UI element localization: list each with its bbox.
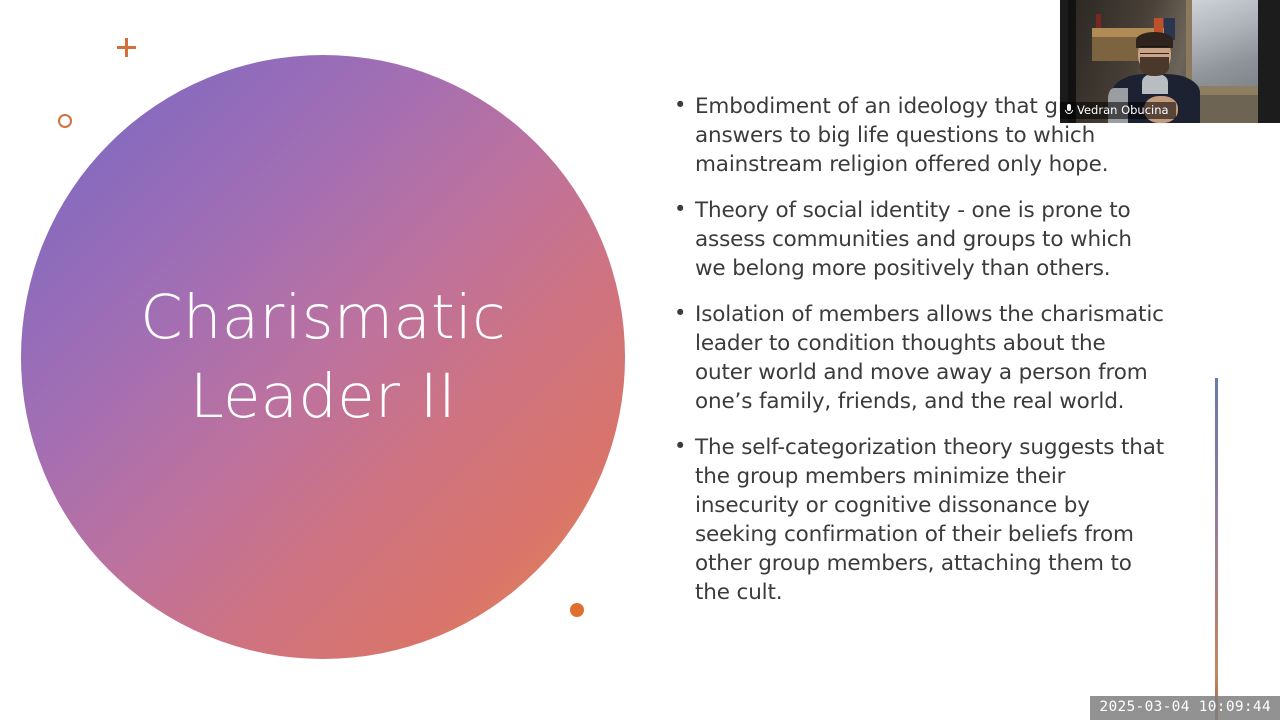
participant-name-tag: Vedran Obucina [1060, 102, 1176, 119]
slide-body: Embodiment of an ideology that gives ans… [668, 92, 1168, 607]
microphone-icon [1065, 104, 1073, 116]
vertical-gradient-line [1215, 378, 1218, 720]
bullet-item: The self-categorization theory suggests … [668, 433, 1168, 607]
video-person-shirt [1142, 74, 1168, 94]
slide-title: Charismatic Leader II [45, 278, 601, 437]
video-shelf-object [1096, 14, 1101, 28]
bullet-item: Isolation of members allows the charisma… [668, 300, 1168, 416]
screen-root: Charismatic Leader II Embodiment of an i… [0, 0, 1280, 720]
video-letterbox-right [1258, 0, 1280, 123]
circle-outline-mark-icon [58, 114, 72, 128]
filled-dot-mark-icon [570, 603, 584, 617]
bullet-item: Theory of social identity - one is prone… [668, 196, 1168, 283]
video-desk [1198, 95, 1258, 123]
bullet-list: Embodiment of an ideology that gives ans… [668, 92, 1168, 607]
title-circle: Charismatic Leader II [21, 55, 625, 659]
video-person-glasses [1140, 46, 1169, 54]
plus-mark-icon [117, 38, 136, 57]
video-person-beard [1140, 57, 1169, 76]
participant-video-overlay[interactable]: Vedran Obucina [1060, 0, 1280, 123]
recording-timestamp: 2025-03-04 10:09:44 [1090, 696, 1280, 720]
participant-name-label: Vedran Obucina [1077, 103, 1169, 117]
